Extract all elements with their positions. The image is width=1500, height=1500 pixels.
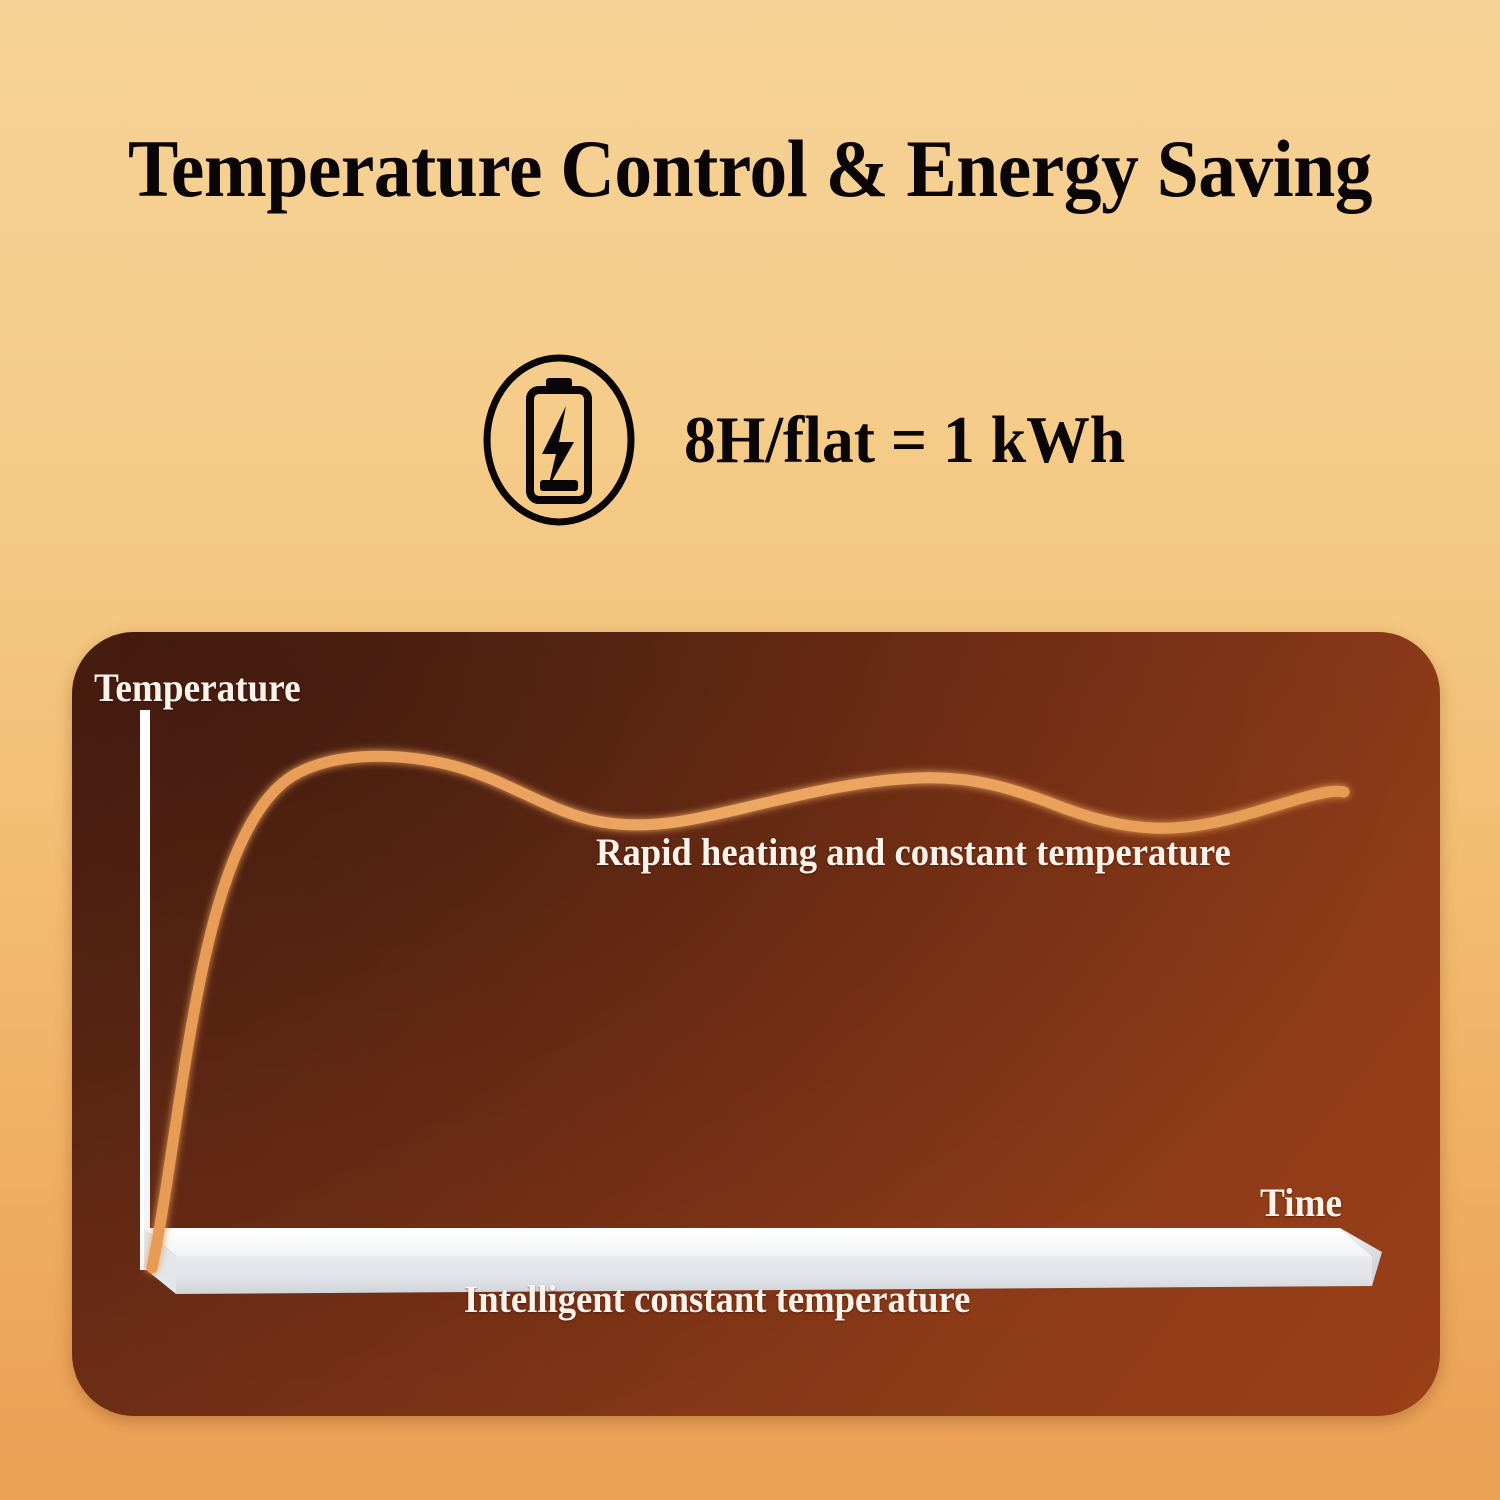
y-axis-label: Temperature	[94, 664, 301, 711]
chart-caption: Intelligent constant temperature	[464, 1277, 970, 1322]
x-axis-label: Time	[1260, 1179, 1342, 1226]
temperature-chart-panel: Temperature Time Rapid heating and const…	[72, 632, 1440, 1416]
battery-lightning-icon	[480, 354, 638, 526]
page-title: Temperature Control & Energy Saving	[60, 126, 1440, 212]
poster-root: Temperature Control & Energy Saving 8H/f…	[0, 0, 1500, 1500]
energy-badge-label: 8H/flat = 1 kWh	[684, 402, 1125, 479]
energy-badge-row: 8H/flat = 1 kWh	[480, 352, 1180, 528]
y-axis	[140, 710, 150, 1270]
curve-annotation: Rapid heating and constant temperature	[596, 830, 1231, 875]
